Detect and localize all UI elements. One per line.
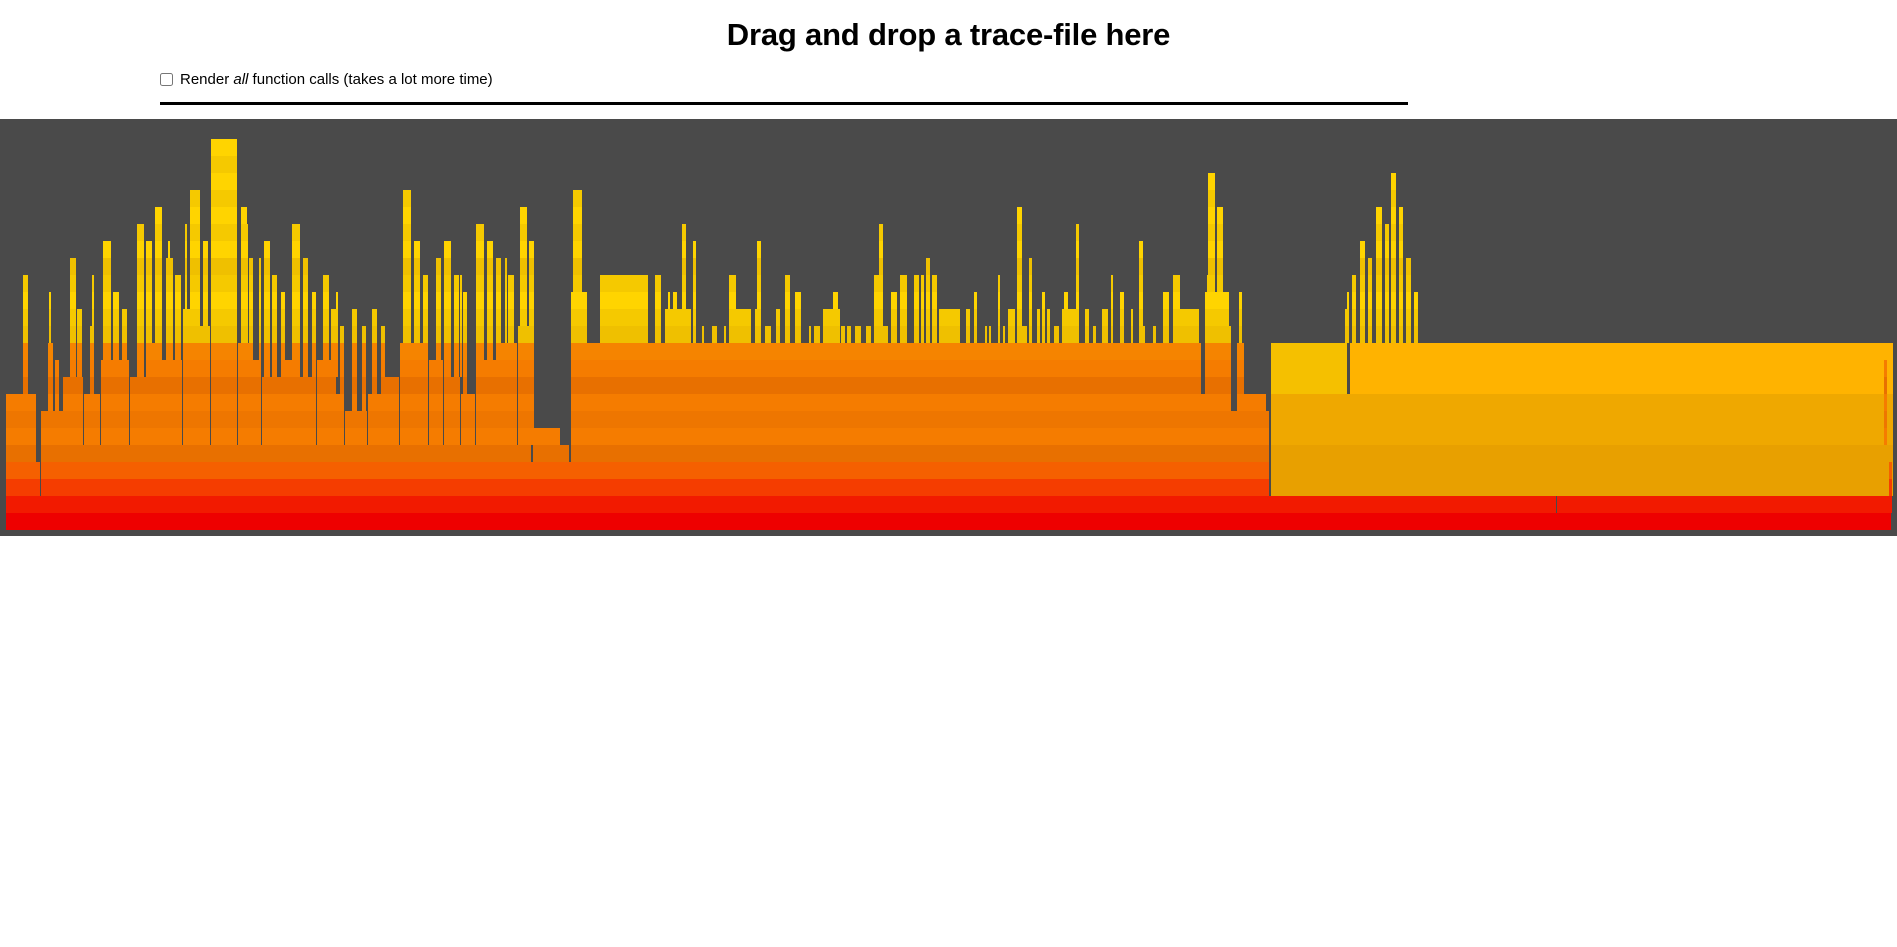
flame-frame[interactable] [168, 343, 170, 360]
flame-frame[interactable] [362, 411, 366, 428]
flame-frame[interactable] [682, 224, 686, 241]
flame-frame[interactable] [303, 275, 308, 292]
flame-frame[interactable] [249, 360, 253, 377]
flame-frame[interactable] [146, 309, 152, 326]
flame-frame[interactable] [874, 326, 879, 343]
flame-frame[interactable] [249, 326, 253, 343]
flame-frame[interactable] [323, 411, 329, 428]
flame-frame[interactable] [77, 394, 82, 411]
flame-frame[interactable] [259, 275, 261, 292]
flame-frame[interactable] [1391, 173, 1396, 190]
flame-frame[interactable] [49, 326, 51, 343]
flame-frame[interactable] [264, 275, 270, 292]
flame-frame[interactable] [879, 275, 883, 292]
flame-frame[interactable] [487, 258, 493, 275]
flame-frame[interactable] [6, 411, 36, 428]
flame-frame[interactable] [352, 394, 357, 411]
flame-frame[interactable] [914, 292, 919, 309]
flame-frame[interactable] [409, 224, 411, 241]
flame-frame[interactable] [1214, 309, 1223, 326]
flame-frame[interactable] [974, 326, 977, 343]
flame-frame[interactable] [454, 411, 459, 428]
flame-frame[interactable] [203, 258, 208, 275]
flame-frame[interactable] [1385, 275, 1389, 292]
flame-frame[interactable] [520, 411, 527, 428]
flame-frame[interactable] [529, 428, 534, 445]
flame-frame[interactable] [303, 258, 308, 275]
flame-frame[interactable] [185, 275, 187, 292]
flame-frame[interactable] [444, 360, 451, 377]
flame-frame[interactable] [214, 190, 234, 207]
flame-frame[interactable] [476, 360, 484, 377]
flame-frame[interactable] [423, 360, 428, 377]
flame-frame[interactable] [49, 292, 51, 309]
flame-frame[interactable] [323, 394, 329, 411]
flame-frame[interactable] [1224, 411, 1231, 428]
flame-frame[interactable] [524, 275, 526, 292]
flame-frame[interactable] [444, 292, 451, 309]
flame-frame[interactable] [246, 326, 248, 343]
flame-frame[interactable] [352, 428, 357, 445]
flame-frame[interactable] [103, 258, 111, 275]
flame-frame[interactable] [113, 428, 119, 445]
flame-frame[interactable] [1217, 241, 1223, 258]
flame-frame[interactable] [1414, 292, 1418, 309]
flame-frame[interactable] [529, 275, 534, 292]
flame-frame[interactable] [312, 428, 316, 445]
flame-frame[interactable] [137, 326, 144, 343]
flame-frame[interactable] [1008, 309, 1015, 326]
flame-frame[interactable] [463, 377, 467, 394]
flame-frame[interactable] [693, 309, 696, 326]
flame-frame[interactable] [272, 275, 277, 292]
flame-frame[interactable] [914, 275, 919, 292]
flame-frame[interactable] [70, 343, 76, 360]
flame-frame[interactable] [508, 360, 514, 377]
flame-frame[interactable] [1029, 326, 1032, 343]
flame-frame[interactable] [505, 292, 507, 309]
flame-frame[interactable] [55, 360, 59, 377]
flame-frame[interactable] [70, 394, 76, 411]
flame-frame[interactable] [214, 326, 234, 343]
flame-frame[interactable] [55, 394, 59, 411]
flame-frame[interactable] [423, 326, 428, 343]
flame-frame[interactable] [23, 411, 28, 428]
flame-frame[interactable] [70, 411, 76, 428]
flame-frame[interactable] [241, 377, 247, 394]
flame-frame[interactable] [454, 275, 459, 292]
flame-frame[interactable] [137, 428, 144, 445]
flame-frame[interactable] [1360, 241, 1365, 258]
flame-frame[interactable] [312, 411, 316, 428]
flame-frame[interactable] [841, 326, 845, 343]
flame-frame[interactable] [168, 275, 170, 292]
flame-frame[interactable] [272, 326, 277, 343]
flame-frame[interactable] [122, 411, 127, 428]
flame-frame[interactable] [381, 360, 385, 377]
flame-frame[interactable] [1224, 343, 1231, 360]
flame-frame[interactable] [137, 275, 144, 292]
flame-frame[interactable] [1385, 309, 1389, 326]
flame-frame[interactable] [1093, 326, 1096, 343]
flame-frame[interactable] [712, 326, 717, 343]
flame-frame[interactable] [1131, 326, 1133, 343]
flame-frame[interactable] [436, 377, 441, 394]
flame-frame[interactable] [496, 309, 501, 326]
flame-frame[interactable] [168, 241, 170, 258]
flame-frame[interactable] [1391, 241, 1396, 258]
flame-frame[interactable] [103, 241, 111, 258]
flame-frame[interactable] [529, 241, 534, 258]
flame-frame[interactable] [246, 360, 248, 377]
flame-frame[interactable] [155, 394, 162, 411]
flame-frame[interactable] [487, 309, 493, 326]
flame-frame[interactable] [724, 326, 726, 343]
flame-frame[interactable] [214, 343, 234, 360]
flame-frame[interactable] [729, 275, 736, 292]
flame-frame[interactable] [409, 292, 411, 309]
flame-frame[interactable] [1391, 309, 1396, 326]
flame-frame[interactable] [249, 377, 253, 394]
flame-frame[interactable] [103, 428, 111, 445]
flame-frame[interactable] [331, 326, 336, 343]
flame-frame[interactable] [476, 224, 484, 241]
flame-frame[interactable] [23, 360, 28, 377]
flame-frame[interactable] [249, 275, 253, 292]
flame-frame[interactable] [921, 309, 924, 326]
flame-frame[interactable] [496, 360, 501, 377]
flame-frame[interactable] [70, 326, 76, 343]
flame-frame[interactable] [296, 343, 298, 360]
flame-frame[interactable] [214, 173, 234, 190]
flame-frame[interactable] [414, 258, 420, 275]
flame-frame[interactable] [1017, 309, 1022, 326]
flame-frame[interactable] [921, 326, 924, 343]
flame-frame[interactable] [272, 394, 277, 411]
flame-frame[interactable] [1208, 190, 1215, 207]
flame-frame[interactable] [1391, 275, 1396, 292]
flame-frame[interactable] [571, 394, 1211, 411]
flame-frame[interactable] [331, 411, 336, 428]
flame-frame[interactable] [1241, 411, 1253, 428]
flame-frame[interactable] [487, 326, 493, 343]
flame-frame[interactable] [529, 343, 534, 360]
flame-frame[interactable] [785, 292, 790, 309]
flame-frame[interactable] [529, 258, 534, 275]
flame-frame[interactable] [113, 377, 119, 394]
flame-frame[interactable] [571, 411, 1269, 428]
flame-frame[interactable] [529, 394, 534, 411]
flame-frame[interactable] [1207, 360, 1212, 377]
flame-frame[interactable] [1085, 309, 1089, 326]
flame-frame[interactable] [1207, 292, 1212, 309]
flame-frame[interactable] [385, 428, 399, 445]
flame-frame[interactable] [436, 309, 441, 326]
flame-frame[interactable] [1368, 275, 1372, 292]
flame-frame[interactable] [175, 411, 181, 428]
flame-frame[interactable] [729, 292, 736, 309]
flame-frame[interactable] [524, 309, 526, 326]
flame-frame[interactable] [77, 326, 82, 343]
flame-frame[interactable] [336, 292, 338, 309]
flame-frame[interactable] [155, 326, 162, 343]
flame-frame[interactable] [103, 326, 111, 343]
flame-frame[interactable] [103, 309, 111, 326]
flame-frame[interactable] [190, 428, 200, 445]
flame-frame[interactable] [436, 360, 441, 377]
flame-frame[interactable] [573, 207, 582, 224]
flame-frame[interactable] [423, 343, 428, 360]
flame-frame[interactable] [496, 343, 501, 360]
flame-frame[interactable] [185, 258, 187, 275]
flame-frame[interactable] [92, 309, 94, 326]
flame-frame[interactable] [1102, 309, 1108, 326]
flame-frame[interactable] [241, 411, 247, 428]
flame-frame[interactable] [1207, 377, 1212, 394]
flame-frame[interactable] [571, 377, 587, 394]
flame-frame[interactable] [214, 275, 234, 292]
flame-frame[interactable] [974, 309, 977, 326]
flame-frame[interactable] [249, 343, 253, 360]
flame-frame[interactable] [505, 360, 507, 377]
flame-frame[interactable] [272, 343, 277, 360]
flame-frame[interactable] [1884, 411, 1887, 428]
flame-frame[interactable] [1207, 394, 1212, 411]
flame-frame[interactable] [444, 377, 451, 394]
flame-frame[interactable] [340, 343, 344, 360]
flame-frame[interactable] [1385, 326, 1389, 343]
flame-frame[interactable] [1054, 326, 1059, 343]
flame-frame[interactable] [155, 343, 162, 360]
flame-frame[interactable] [1224, 394, 1231, 411]
flame-frame[interactable] [249, 292, 253, 309]
flame-frame[interactable] [505, 343, 507, 360]
flame-frame[interactable] [879, 241, 883, 258]
flame-frame[interactable] [90, 428, 94, 445]
flame-frame[interactable] [409, 207, 411, 224]
flame-frame[interactable] [1406, 275, 1411, 292]
flame-frame[interactable] [1017, 241, 1022, 258]
flame-frame[interactable] [1047, 309, 1050, 326]
flame-frame[interactable] [476, 292, 484, 309]
flame-frame[interactable] [571, 326, 587, 343]
flame-frame[interactable] [476, 258, 484, 275]
flame-frame[interactable] [1139, 241, 1143, 258]
flame-frame[interactable] [249, 258, 253, 275]
flame-frame[interactable] [381, 394, 385, 411]
flame-frame[interactable] [55, 411, 59, 428]
flame-frame[interactable] [682, 275, 686, 292]
flame-frame[interactable] [776, 326, 780, 343]
flame-frame[interactable] [444, 343, 451, 360]
flame-frame[interactable] [259, 343, 261, 360]
flame-frame[interactable] [520, 394, 527, 411]
flame-frame[interactable] [146, 411, 152, 428]
flame-frame[interactable] [146, 377, 152, 394]
flame-frame[interactable] [331, 343, 336, 360]
flame-frame[interactable] [155, 258, 162, 275]
flame-frame[interactable] [1385, 224, 1389, 241]
flame-frame[interactable] [323, 428, 329, 445]
flame-frame[interactable] [693, 241, 696, 258]
flame-frame[interactable] [1360, 309, 1365, 326]
flame-frame[interactable] [381, 411, 385, 428]
flame-frame[interactable] [381, 326, 385, 343]
flame-frame[interactable] [926, 258, 930, 275]
flame-frame[interactable] [571, 343, 1201, 360]
flame-frame[interactable] [49, 360, 51, 377]
flame-frame[interactable] [1173, 275, 1180, 292]
flame-frame[interactable] [1085, 326, 1089, 343]
flame-frame[interactable] [303, 360, 308, 377]
flame-frame[interactable] [146, 258, 152, 275]
flame-frame[interactable] [362, 377, 366, 394]
flame-frame[interactable] [1163, 292, 1169, 309]
flame-frame[interactable] [381, 343, 385, 360]
flame-frame[interactable] [891, 309, 897, 326]
flame-frame[interactable] [214, 360, 234, 377]
flame-frame[interactable] [403, 411, 411, 428]
flame-frame[interactable] [175, 428, 181, 445]
flame-frame[interactable] [92, 275, 94, 292]
flame-frame[interactable] [340, 360, 344, 377]
flame-frame[interactable] [312, 394, 316, 411]
flame-frame[interactable] [249, 394, 253, 411]
flame-frame[interactable] [1414, 309, 1418, 326]
flame-frame[interactable] [190, 224, 200, 241]
flame-frame[interactable] [1153, 326, 1156, 343]
flame-frame[interactable] [414, 360, 420, 377]
flame-frame[interactable] [241, 207, 247, 224]
flame-frame[interactable] [1214, 292, 1223, 309]
flame-frame[interactable] [1214, 360, 1223, 377]
flame-frame[interactable] [1241, 428, 1253, 445]
flame-frame[interactable] [137, 377, 144, 394]
flame-frame[interactable] [1214, 377, 1223, 394]
flame-frame[interactable] [264, 258, 270, 275]
flame-frame[interactable] [414, 241, 420, 258]
flame-frame[interactable] [1376, 292, 1382, 309]
flame-frame[interactable] [1042, 309, 1045, 326]
flame-frame[interactable] [175, 292, 181, 309]
flame-frame[interactable] [168, 258, 170, 275]
flame-frame[interactable] [175, 309, 181, 326]
flame-frame[interactable] [331, 377, 336, 394]
flame-frame[interactable] [487, 394, 493, 411]
flame-frame[interactable] [460, 292, 462, 309]
flame-frame[interactable] [573, 241, 582, 258]
flame-frame[interactable] [155, 241, 162, 258]
flame-frame[interactable] [352, 360, 357, 377]
flame-frame[interactable] [785, 309, 790, 326]
flame-frame[interactable] [900, 326, 907, 343]
flame-frame[interactable] [1376, 326, 1382, 343]
flame-frame[interactable] [214, 394, 234, 411]
flame-frame[interactable] [264, 411, 270, 428]
flame-frame[interactable] [1139, 326, 1143, 343]
flame-frame[interactable] [1017, 224, 1022, 241]
flame-frame[interactable] [932, 275, 937, 292]
flame-frame[interactable] [655, 309, 661, 326]
flame-frame[interactable] [1239, 326, 1242, 343]
flame-frame[interactable] [423, 411, 428, 428]
flame-frame[interactable] [70, 428, 76, 445]
flame-frame[interactable] [460, 326, 462, 343]
flame-frame[interactable] [211, 139, 237, 156]
flame-frame[interactable] [1347, 292, 1349, 309]
flame-frame[interactable] [1029, 292, 1032, 309]
flame-frame[interactable] [487, 411, 493, 428]
flame-frame[interactable] [571, 309, 587, 326]
flame-frame[interactable] [296, 309, 298, 326]
flame-frame[interactable] [571, 360, 587, 377]
flame-frame[interactable] [1376, 309, 1382, 326]
flame-frame[interactable] [185, 360, 187, 377]
flame-frame[interactable] [23, 343, 28, 360]
flame-frame[interactable] [185, 224, 187, 241]
flame-frame[interactable] [463, 428, 467, 445]
flame-frame[interactable] [372, 394, 377, 411]
flame-frame[interactable] [372, 343, 377, 360]
flame-frame[interactable] [292, 224, 300, 241]
flame-frame[interactable] [524, 343, 526, 360]
flame-frame[interactable] [1241, 462, 1253, 479]
flame-frame[interactable] [508, 343, 514, 360]
flame-frame[interactable] [1111, 292, 1113, 309]
flame-frame[interactable] [463, 309, 467, 326]
flame-frame[interactable] [1889, 462, 1892, 479]
flame-frame[interactable] [372, 377, 377, 394]
flame-frame[interactable] [155, 292, 162, 309]
flame-frame[interactable] [600, 309, 648, 326]
flame-frame[interactable] [508, 326, 514, 343]
flame-frame[interactable] [203, 292, 208, 309]
flame-frame[interactable] [604, 411, 648, 428]
flame-frame[interactable] [6, 394, 36, 411]
flame-frame[interactable] [673, 292, 677, 309]
flame-frame[interactable] [1131, 309, 1133, 326]
flame-frame[interactable] [23, 326, 28, 343]
flame-frame[interactable] [77, 411, 82, 428]
flame-frame[interactable] [524, 292, 526, 309]
flame-frame[interactable] [362, 360, 366, 377]
flame-frame[interactable] [476, 275, 484, 292]
flame-frame[interactable] [1271, 445, 1893, 496]
flame-frame[interactable] [146, 343, 152, 360]
flame-frame[interactable] [414, 394, 420, 411]
flame-frame[interactable] [665, 326, 691, 343]
flame-frame[interactable] [1884, 377, 1887, 394]
flame-frame[interactable] [1376, 258, 1382, 275]
flame-frame[interactable] [23, 309, 28, 326]
flame-frame[interactable] [1360, 326, 1365, 343]
flame-frame[interactable] [203, 394, 208, 411]
flame-frame[interactable] [214, 207, 234, 224]
flame-frame[interactable] [372, 360, 377, 377]
flame-frame[interactable] [185, 241, 187, 258]
flame-frame[interactable] [533, 428, 560, 445]
flame-frame[interactable] [312, 309, 316, 326]
flame-frame[interactable] [1208, 241, 1215, 258]
flame-frame[interactable] [113, 394, 119, 411]
flame-frame[interactable] [444, 258, 451, 275]
flame-frame[interactable] [476, 309, 484, 326]
flame-frame[interactable] [1076, 292, 1079, 309]
flame-frame[interactable] [932, 292, 937, 309]
flame-frame[interactable] [1217, 258, 1223, 275]
flame-frame[interactable] [571, 394, 587, 411]
flame-frame[interactable] [146, 360, 152, 377]
